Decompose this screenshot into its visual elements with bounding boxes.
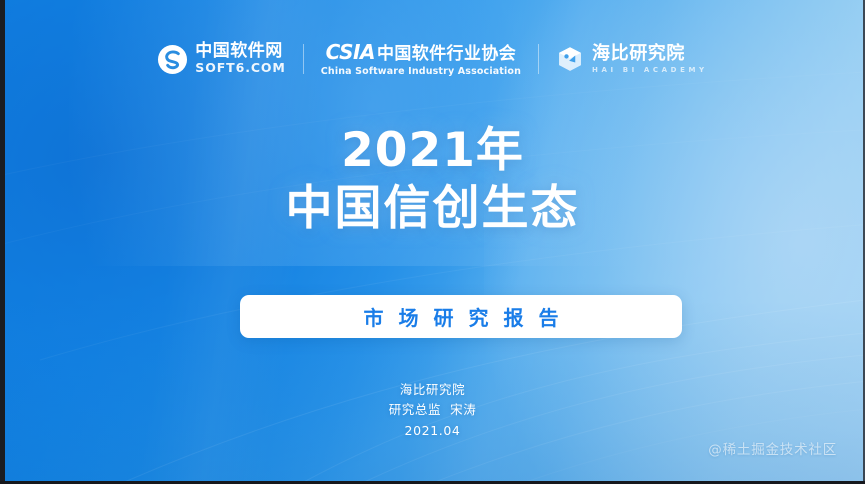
logo-soft6: 中国软件网 SOFT6.COM xyxy=(157,43,285,75)
logo-csia-cn: 中国软件行业协会 xyxy=(377,46,516,63)
cube-icon xyxy=(556,45,584,73)
report-type-label: 市场研究报告 xyxy=(349,302,574,331)
report-type-banner: 市场研究报告 xyxy=(240,295,682,338)
byline-role-author: 研究总监宋涛 xyxy=(0,400,865,420)
swirl-s-icon xyxy=(157,44,188,75)
logo-haibi-cn: 海比研究院 xyxy=(592,45,708,63)
logo-divider-1 xyxy=(303,44,304,74)
logo-soft6-cn: 中国软件网 xyxy=(195,43,285,60)
title-line-subject: 中国信创生态 xyxy=(0,184,865,235)
frame-edge-left xyxy=(0,0,5,484)
logo-divider-2 xyxy=(538,44,539,74)
byline-author: 宋涛 xyxy=(450,402,476,417)
logo-csia-abbr: CSIA xyxy=(326,42,375,62)
byline: 海比研究院 研究总监宋涛 2021.04 xyxy=(0,380,865,441)
logo-csia: CSIA 中国软件行业协会 China Software Industry As… xyxy=(321,42,521,77)
title-line-year: 2021年 xyxy=(0,126,865,177)
logo-bar: 中国软件网 SOFT6.COM CSIA 中国软件行业协会 China Soft… xyxy=(0,36,865,82)
logo-haibi-en: HAI BI ACADEMY xyxy=(592,67,708,74)
byline-role: 研究总监 xyxy=(389,402,441,417)
logo-soft6-en: SOFT6.COM xyxy=(195,62,285,75)
watermark: @稀土掘金技术社区 xyxy=(708,438,837,458)
title-block: 2021年 中国信创生态 xyxy=(0,126,865,235)
logo-csia-en: China Software Industry Association xyxy=(321,67,521,77)
logo-haibi: 海比研究院 HAI BI ACADEMY xyxy=(556,45,708,74)
presentation-slide: 中国软件网 SOFT6.COM CSIA 中国软件行业协会 China Soft… xyxy=(0,0,865,484)
byline-org: 海比研究院 xyxy=(0,380,865,400)
